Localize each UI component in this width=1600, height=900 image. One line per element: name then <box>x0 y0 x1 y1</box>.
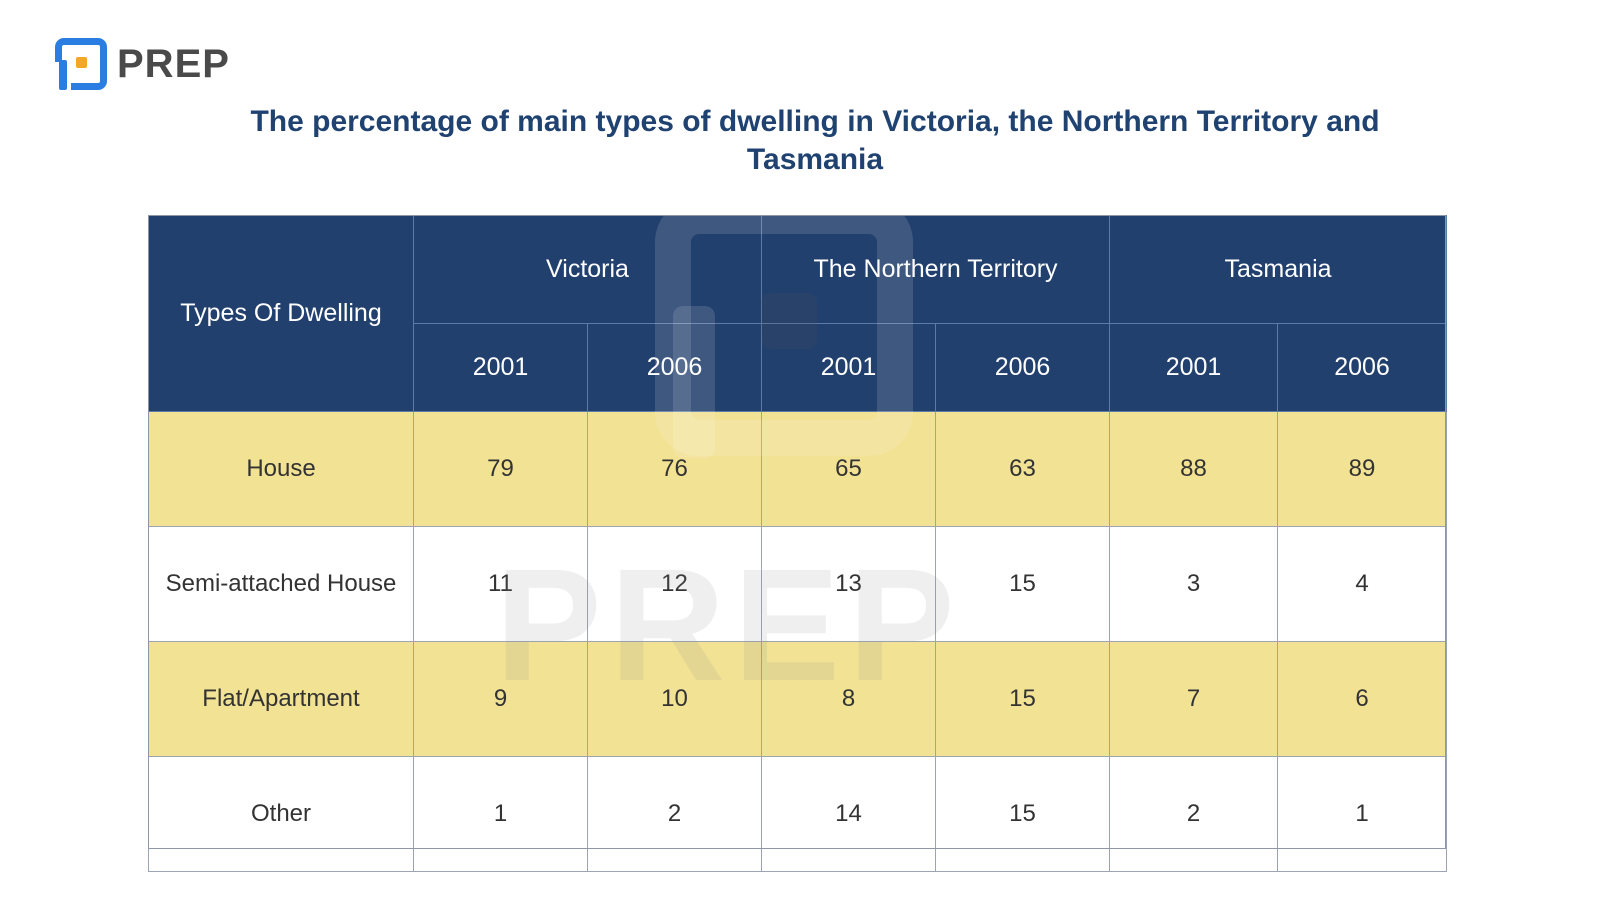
cell-other-tasmania-2001: 2 <box>1110 757 1278 872</box>
header-region-northern-territory: The Northern Territory <box>762 216 1110 324</box>
cell-flat-tasmania-2001: 7 <box>1110 642 1278 757</box>
table-head: Types Of Dwelling Victoria The Northern … <box>149 216 1447 412</box>
cell-semi-nt-2001: 13 <box>762 527 936 642</box>
cell-other-nt-2006: 15 <box>936 757 1110 872</box>
header-year-victoria-2001: 2001 <box>414 324 588 412</box>
cell-house-victoria-2006: 76 <box>588 412 762 527</box>
header-year-victoria-2006: 2006 <box>588 324 762 412</box>
cell-flat-nt-2006: 15 <box>936 642 1110 757</box>
table-row: Semi-attached House 11 12 13 15 3 4 <box>149 527 1447 642</box>
row-label-semi-attached-house: Semi-attached House <box>149 527 414 642</box>
table-row: Flat/Apartment 9 10 8 15 7 6 <box>149 642 1447 757</box>
cell-semi-victoria-2006: 12 <box>588 527 762 642</box>
cell-house-victoria-2001: 79 <box>414 412 588 527</box>
dwelling-table-container: Types Of Dwelling Victoria The Northern … <box>148 215 1446 872</box>
table-body: House 79 76 65 63 88 89 Semi-attached Ho… <box>149 412 1447 872</box>
header-year-tasmania-2001: 2001 <box>1110 324 1278 412</box>
prep-logo-icon <box>55 38 107 90</box>
header-region-victoria: Victoria <box>414 216 762 324</box>
header-region-tasmania: Tasmania <box>1110 216 1447 324</box>
cell-house-tasmania-2006: 89 <box>1278 412 1447 527</box>
cell-flat-victoria-2001: 9 <box>414 642 588 757</box>
row-label-flat-apartment: Flat/Apartment <box>149 642 414 757</box>
cell-other-victoria-2001: 1 <box>414 757 588 872</box>
table-row: Other 1 2 14 15 2 1 <box>149 757 1447 872</box>
table-row: House 79 76 65 63 88 89 <box>149 412 1447 527</box>
cell-house-tasmania-2001: 88 <box>1110 412 1278 527</box>
header-year-tasmania-2006: 2006 <box>1278 324 1447 412</box>
cell-house-nt-2001: 65 <box>762 412 936 527</box>
cell-semi-tasmania-2001: 3 <box>1110 527 1278 642</box>
row-label-house: House <box>149 412 414 527</box>
header-types-of-dwelling: Types Of Dwelling <box>149 216 414 412</box>
brand-logo: PREP <box>55 38 230 90</box>
cell-semi-nt-2006: 15 <box>936 527 1110 642</box>
cell-other-victoria-2006: 2 <box>588 757 762 872</box>
logo-dot <box>76 57 87 68</box>
cell-flat-tasmania-2006: 6 <box>1278 642 1447 757</box>
cell-flat-victoria-2006: 10 <box>588 642 762 757</box>
cell-house-nt-2006: 63 <box>936 412 1110 527</box>
cell-other-tasmania-2006: 1 <box>1278 757 1447 872</box>
header-year-nt-2001: 2001 <box>762 324 936 412</box>
dwelling-table: Types Of Dwelling Victoria The Northern … <box>148 215 1447 872</box>
row-label-other: Other <box>149 757 414 872</box>
header-year-nt-2006: 2006 <box>936 324 1110 412</box>
cell-flat-nt-2001: 8 <box>762 642 936 757</box>
cell-semi-tasmania-2006: 4 <box>1278 527 1447 642</box>
header-row-regions: Types Of Dwelling Victoria The Northern … <box>149 216 1447 324</box>
cell-other-nt-2001: 14 <box>762 757 936 872</box>
brand-logo-text: PREP <box>117 44 230 84</box>
logo-stem <box>59 60 67 90</box>
cell-semi-victoria-2001: 11 <box>414 527 588 642</box>
page-title: The percentage of main types of dwelling… <box>250 103 1380 180</box>
